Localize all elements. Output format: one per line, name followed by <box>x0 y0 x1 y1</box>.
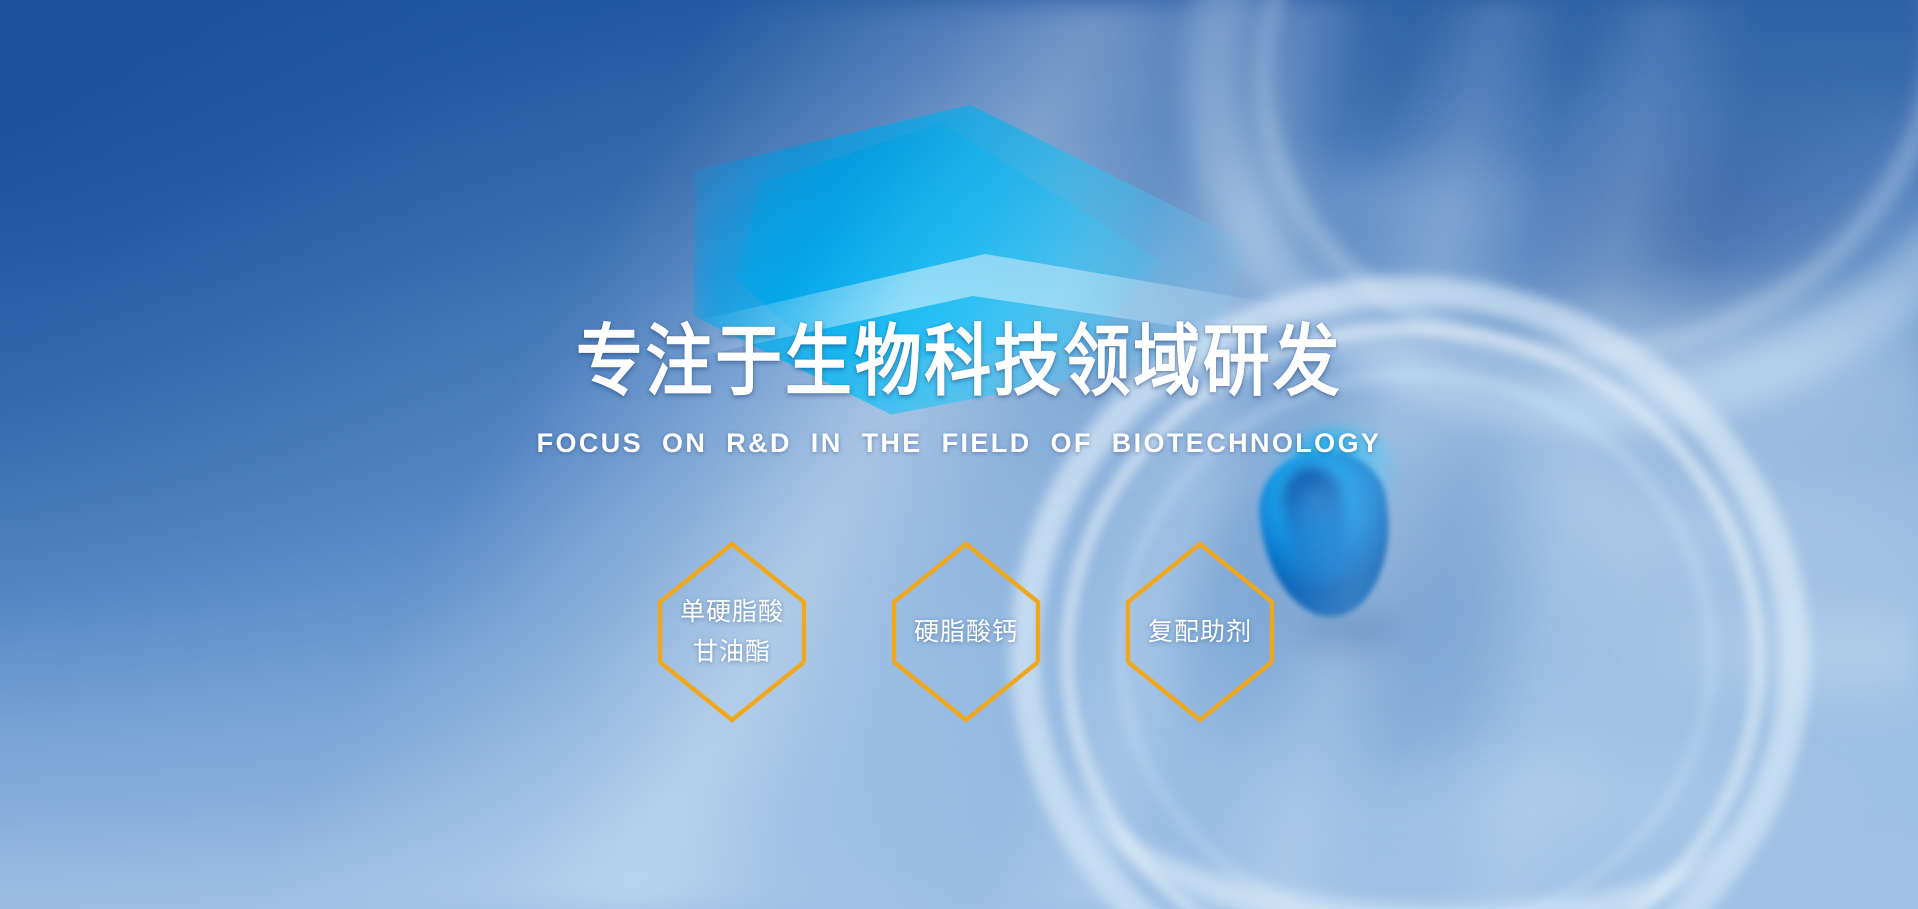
product-badge-monoglyceride[interactable]: 单硬脂酸 甘油酯 <box>656 540 808 724</box>
product-badge-row: 单硬脂酸 甘油酯 硬脂酸钙 复配助剂 <box>648 540 1288 730</box>
banner-content: 专注于生物科技领域研发 FOCUS ON R&D IN THE FIELD OF… <box>0 0 1918 909</box>
badge-line-1: 单硬脂酸 <box>680 592 784 632</box>
product-badge-label: 硬脂酸钙 <box>890 540 1042 724</box>
product-badge-compound-additive[interactable]: 复配助剂 <box>1124 540 1276 724</box>
badge-line-1: 复配助剂 <box>1148 612 1252 652</box>
page-subtitle: FOCUS ON R&D IN THE FIELD OF BIOTECHNOLO… <box>0 426 1918 460</box>
page-title: 专注于生物科技领域研发 <box>134 318 1783 404</box>
product-badge-label: 复配助剂 <box>1124 540 1276 724</box>
product-badge-calcium-stearate[interactable]: 硬脂酸钙 <box>890 540 1042 724</box>
hero-banner: 专注于生物科技领域研发 FOCUS ON R&D IN THE FIELD OF… <box>0 0 1918 909</box>
badge-line-1: 硬脂酸钙 <box>914 612 1018 652</box>
badge-line-2: 甘油酯 <box>693 632 771 672</box>
product-badge-label: 单硬脂酸 甘油酯 <box>656 540 808 724</box>
